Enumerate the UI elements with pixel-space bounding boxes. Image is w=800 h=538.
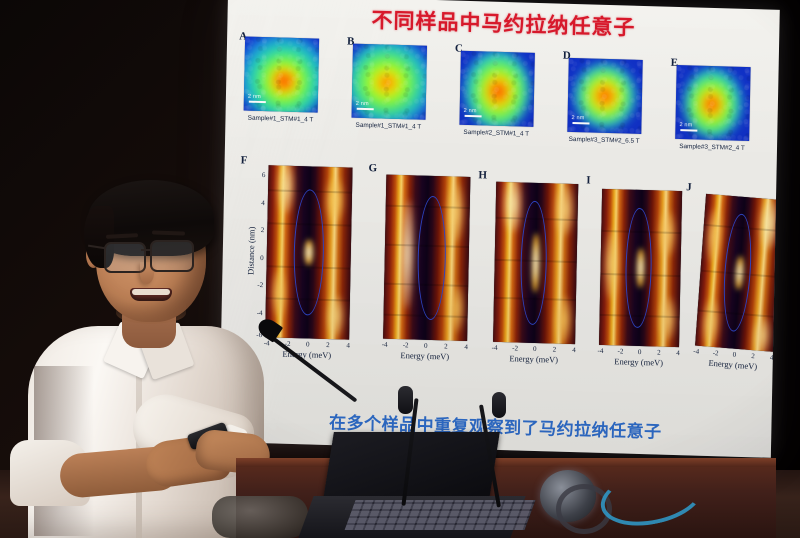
panel-label-i: I: [586, 174, 591, 186]
chin: [116, 302, 186, 324]
x-tick: 4: [572, 346, 576, 354]
x-tick: 2: [751, 352, 755, 360]
stm-topograph-d: 2 nm: [567, 58, 642, 134]
panel-caption-b: Sample#1_STM#1_4 T: [356, 122, 422, 131]
panel-d: D 2 nm Sample#3_STM#2_6.5 T: [567, 58, 642, 134]
panel-caption-a: Sample#1_STM#1_4 T: [248, 115, 314, 124]
x-axis-label-g: Energy (meV): [400, 350, 449, 361]
stm-topograph-a: 2 nm: [244, 37, 319, 113]
x-tick: 2: [444, 342, 448, 350]
stm-topograph-c: 2 nm: [459, 51, 534, 127]
figure-row-top: A 2 nm Sample#1_STM#1_4 T B: [235, 30, 771, 169]
eyeglasses-bridge: [141, 249, 151, 251]
x-tick: 0: [533, 345, 537, 353]
teeth: [132, 289, 170, 295]
x-axis-label-h: Energy (meV): [509, 353, 558, 364]
scalebar-label-c: 2 nm: [464, 108, 477, 114]
stm-topograph-e: 2 nm: [675, 65, 750, 141]
scalebar-label-d: 2 nm: [572, 115, 585, 121]
laptop-keyboard[interactable]: [345, 500, 536, 530]
projection-screen: 不同样品中马约拉纳任意子 A 2 nm Sample#1_STM#1_4 T B: [219, 0, 780, 458]
x-tick: 0: [732, 351, 736, 359]
panel-caption-e: Sample#3_STM#2_4 T: [679, 143, 745, 152]
microphone-head-2: [492, 392, 506, 418]
scalebar-label-e: 2 nm: [679, 122, 692, 128]
panel-b: B 2 nm Sample#1_STM#1_4 T: [352, 44, 427, 120]
mouth: [130, 288, 172, 301]
panel-a: A 2 nm Sample#1_STM#1_4 T: [244, 37, 319, 113]
x-tick: -2: [512, 344, 518, 352]
eyeglasses-lens-right: [150, 240, 194, 272]
x-tick: 4: [770, 354, 774, 362]
x-tick: -4: [492, 344, 498, 352]
panel-caption-c: Sample#2_STM#1_4 T: [463, 129, 529, 138]
panel-label-g: G: [368, 162, 377, 174]
scalebar-label-a: 2 nm: [248, 94, 261, 100]
x-tick: 4: [464, 343, 468, 351]
screenshot-stage: 不同样品中马约拉纳任意子 A 2 nm Sample#1_STM#1_4 T B: [0, 0, 800, 538]
panel-e: E 2 nm Sample#3_STM#2_4 T: [675, 65, 750, 141]
podium-surface: [236, 458, 776, 467]
x-tick: 4: [676, 349, 680, 357]
nose: [140, 262, 154, 284]
panel-caption-d: Sample#3_STM#2_6.5 T: [569, 136, 640, 145]
panel-i: I -4 -2 0 2: [599, 189, 682, 347]
x-tick: -2: [617, 347, 623, 355]
x-tick: 0: [638, 348, 642, 356]
scalebar-label-b: 2 nm: [356, 101, 369, 107]
panel-label-f: F: [241, 154, 248, 166]
panel-label-h: H: [478, 169, 487, 181]
x-tick: 2: [553, 345, 557, 353]
x-axis-label-i: Energy (meV): [614, 356, 663, 367]
panel-c: C 2 nm Sample#2_STM#1_4 T: [459, 51, 534, 127]
x-tick: -2: [712, 349, 718, 357]
x-tick: -4: [382, 341, 388, 349]
panel-g: G -4 -2 0 2 4: [383, 175, 470, 341]
x-tick: 0: [424, 342, 428, 350]
x-tick: -4: [693, 347, 699, 355]
microphone-head-1: [398, 386, 413, 414]
panel-j: J -4 -2 0: [699, 196, 780, 350]
stm-topograph-b: 2 nm: [352, 44, 427, 120]
x-tick: 2: [326, 341, 330, 349]
x-tick: -2: [403, 341, 409, 349]
x-tick: 4: [346, 342, 350, 350]
fabric-object: [212, 496, 308, 538]
panel-label-j: J: [686, 181, 692, 193]
x-tick: 0: [306, 340, 310, 348]
panel-f: F Distance (nm) 6 4 2 0 -2 -4 -6: [265, 165, 352, 339]
x-tick: -4: [598, 347, 604, 355]
x-tick: 2: [657, 348, 661, 356]
panel-h: H -4 -2 0 2: [493, 182, 578, 344]
